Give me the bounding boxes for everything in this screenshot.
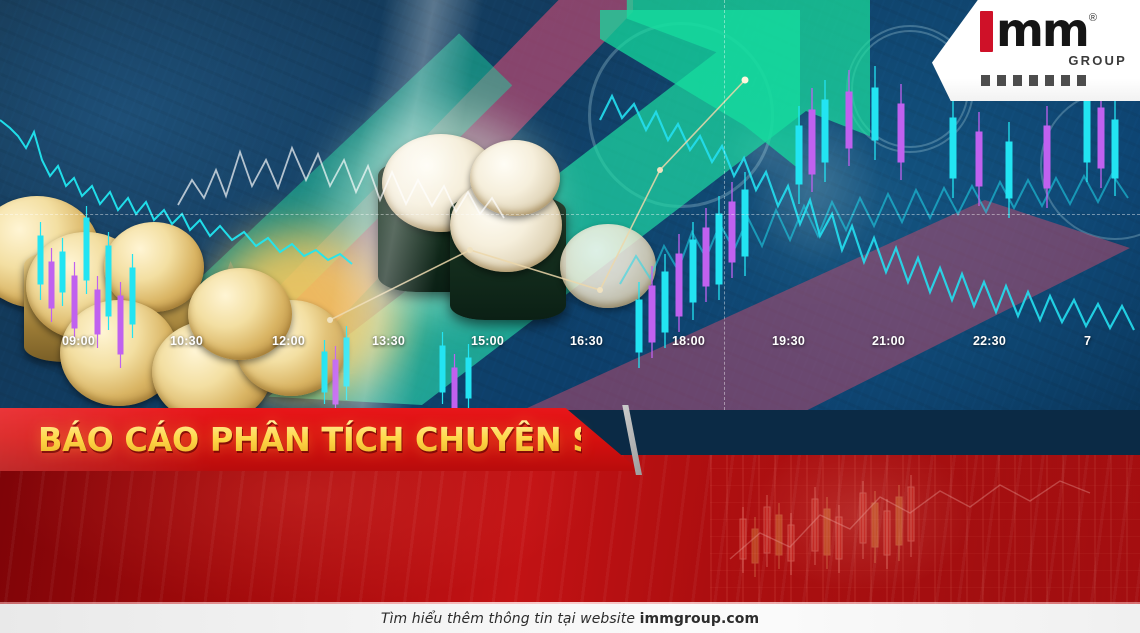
logo-i-bar-icon xyxy=(980,11,993,52)
axis-tick-label: 10:30 xyxy=(170,334,203,348)
registered-trademark-icon: ® xyxy=(1089,12,1097,24)
headline-red-section: VỀ THỊ TRƯỜNG “ĐẦU TƯ ĐỊNH CƯ TOÀN CẦU” … xyxy=(0,455,1140,605)
axis-tick-label: 09:00 xyxy=(62,334,95,348)
logo-square-icon xyxy=(1061,75,1070,86)
crosshair-vertical xyxy=(724,0,725,410)
axis-tick-label: 22:30 xyxy=(973,334,1006,348)
crosshair-horizontal xyxy=(0,214,1140,215)
logo-square-icon xyxy=(1077,75,1086,86)
axis-tick-label: 7 xyxy=(1084,334,1091,348)
axis-tick-label: 19:30 xyxy=(772,334,805,348)
footer-website-note: Tìm hiểu thêm thông tin tại website immg… xyxy=(381,611,759,627)
logo-square-icon xyxy=(1029,75,1038,86)
axis-tick-label: 18:00 xyxy=(672,334,705,348)
axis-tick-label: 21:00 xyxy=(872,334,905,348)
line-node xyxy=(742,77,749,84)
line-node xyxy=(597,287,603,293)
line-series-white xyxy=(178,148,504,218)
footer-bar: Tìm hiểu thêm thông tin tại website immg… xyxy=(0,604,1140,633)
candlestick-series xyxy=(38,66,1118,410)
logo-wordmark: mm ® xyxy=(980,10,1130,55)
logo-mm-text: mm xyxy=(996,10,1088,51)
logo-square-icon xyxy=(1013,75,1022,86)
axis-tick-label: 13:30 xyxy=(372,334,405,348)
line-node xyxy=(327,317,333,323)
line-series-cyan-left xyxy=(0,120,352,264)
logo-square-icon xyxy=(1045,75,1054,86)
axis-tick-label: 16:30 xyxy=(570,334,603,348)
logo-squares-row xyxy=(980,75,1130,86)
red-candlestick-overlay xyxy=(720,463,1120,593)
axis-tick-label: 15:00 xyxy=(471,334,504,348)
logo-square-icon xyxy=(981,75,990,86)
footer-prefix-text: Tìm hiểu thêm thông tin tại website xyxy=(381,611,640,627)
line-node xyxy=(467,247,473,253)
report-cover-banner: 09:00 10:30 12:00 13:30 15:00 16:30 18:0… xyxy=(0,0,1140,633)
footer-website-link[interactable]: immgroup.com xyxy=(640,611,760,627)
axis-tick-label: 12:00 xyxy=(272,334,305,348)
imm-group-logo[interactable]: mm ® GROUP xyxy=(980,10,1130,90)
logo-square-icon xyxy=(997,75,1006,86)
line-series-tan xyxy=(330,80,745,320)
headline-ribbon-text: BÁO CÁO PHÂN TÍCH CHUYÊN SÂU xyxy=(38,415,581,463)
line-node xyxy=(657,167,663,173)
